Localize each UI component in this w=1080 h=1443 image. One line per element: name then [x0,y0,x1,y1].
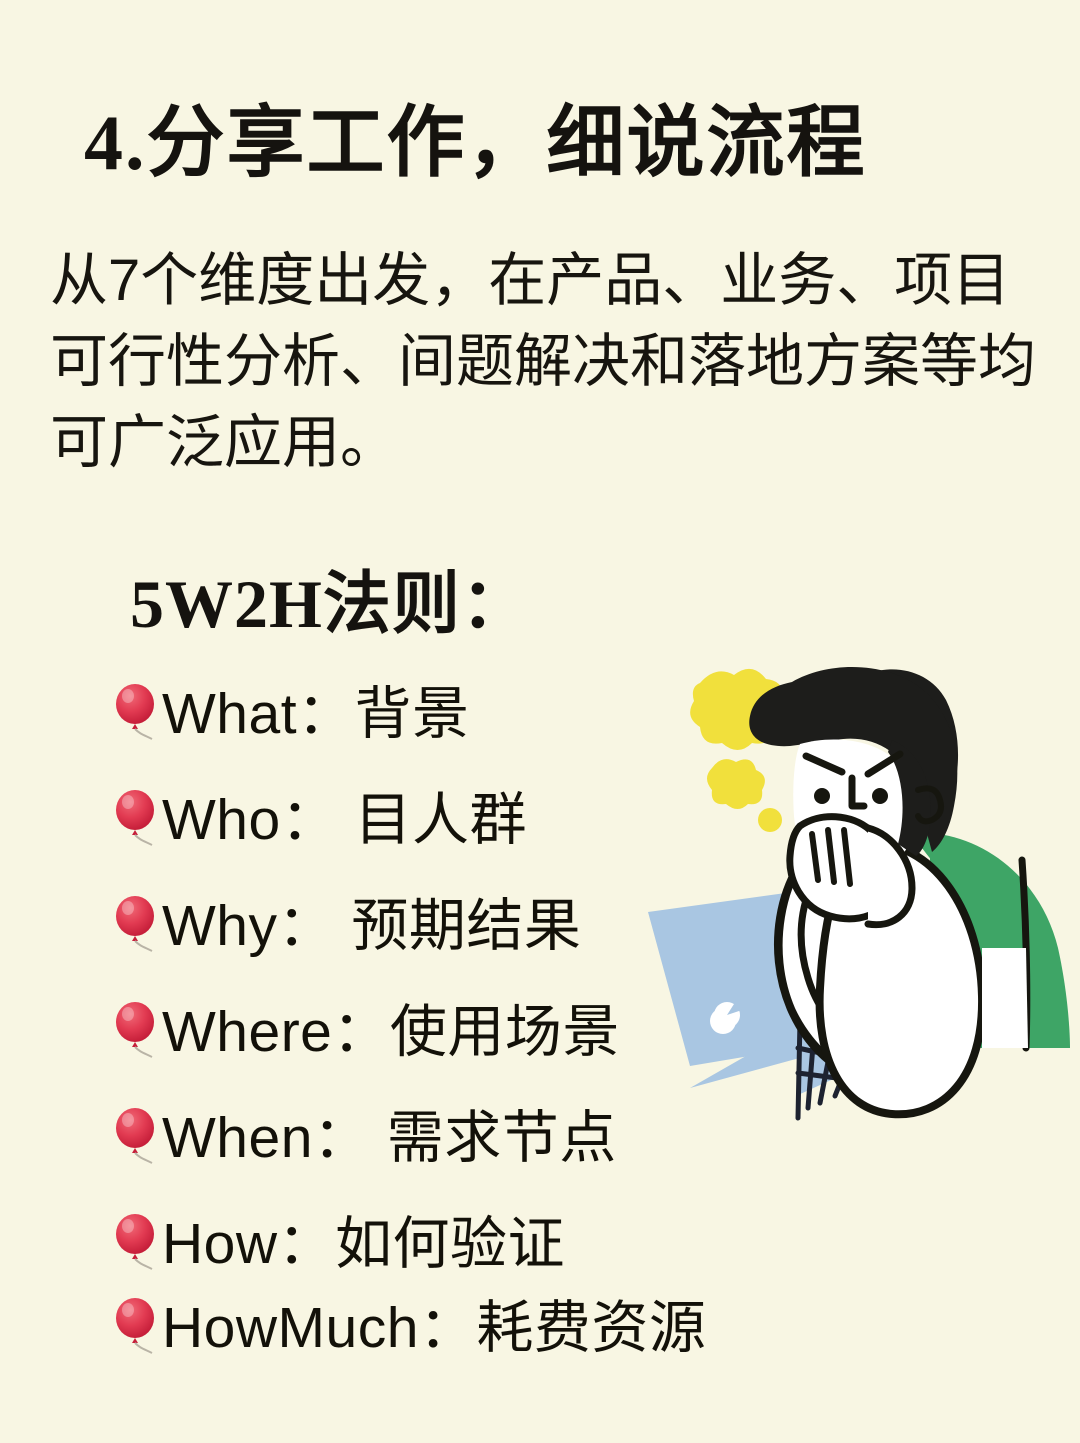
intro-paragraph: 从7个维度出发，在产品、业务、项目可行性分析、间题解决和落地方案等均可广泛应用。 [50,240,1040,484]
balloon-icon [112,787,160,849]
list-item-label: Where：使用场景 [162,1004,620,1061]
thought-bubble-small [758,808,782,832]
sleeve-cuff-white [982,948,1028,1048]
list-item: How：如何验证 [112,1216,812,1272]
list-item-label: How：如何验证 [162,1216,565,1273]
list-item: HowMuch：耗费资源 [112,1300,812,1356]
page-title: 4.分享工作，细说流程 [84,104,867,182]
balloon-icon [112,681,160,743]
poster-canvas: 4.分享工作，细说流程 从7个维度出发，在产品、业务、项目可行性分析、间题解决和… [0,0,1080,1443]
balloon-icon [112,893,160,955]
section-heading: 5W2H法则： [130,570,530,638]
balloon-icon [112,1295,160,1357]
list-item-label: Who： 目人群 [162,792,527,849]
illustration-person-thinking-at-laptop [630,648,1080,1168]
balloon-icon [112,1211,160,1273]
thought-bubble-medium [707,759,765,809]
list-item-label: Why： 预期结果 [162,898,581,955]
balloon-icon [112,999,160,1061]
list-item-label: HowMuch：耗费资源 [162,1300,706,1357]
balloon-icon [112,1105,160,1167]
list-item-label: What：背景 [162,686,470,743]
list-item-label: When： 需求节点 [162,1110,617,1167]
